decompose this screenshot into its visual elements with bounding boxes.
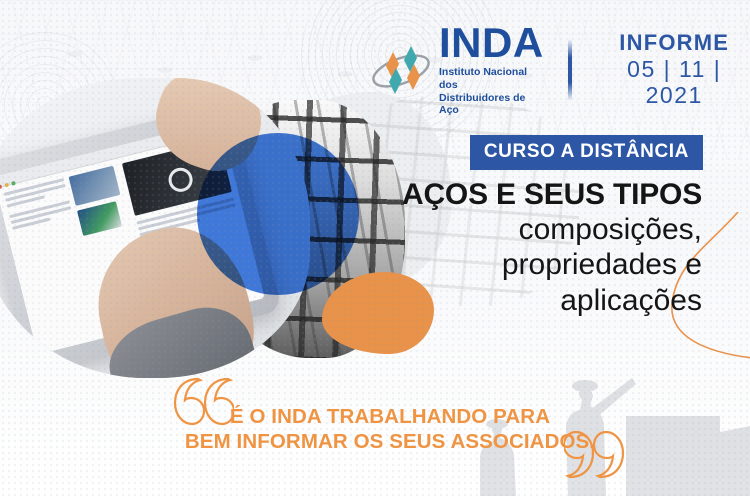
blue-circle-overlay: [197, 133, 359, 295]
inda-orbit-diamonds-logo-icon: [370, 42, 432, 98]
course-type-badge: CURSO A DISTÂNCIA: [470, 135, 703, 170]
informe-block: INFORME 05 | 11 | 2021: [598, 30, 750, 109]
course-subtitle-line2: propriedades e: [402, 248, 702, 283]
quotation-mark-close-icon: [564, 428, 626, 480]
quote-line-2: BEM INFORMAR OS SEUS ASSOCIADOS.: [180, 429, 600, 454]
quote-line-1: É O INDA TRABALHANDO PARA: [180, 404, 600, 429]
informe-date: 05 | 11 | 2021: [598, 56, 750, 109]
course-title-main: AÇOS E SEUS TIPOS: [402, 178, 702, 212]
logo-tagline-line1: Instituto Nacional dos: [439, 66, 544, 92]
quote-text: É O INDA TRABALHANDO PARA BEM INFORMAR O…: [180, 404, 600, 454]
quote-block: É O INDA TRABALHANDO PARA BEM INFORMAR O…: [172, 378, 642, 478]
inda-logo[interactable]: INDA Instituto Nacional dos Distribuidor…: [370, 22, 544, 117]
informe-banner: INDA Instituto Nacional dos Distribuidor…: [0, 0, 750, 496]
course-title-block: AÇOS E SEUS TIPOS composições, proprieda…: [402, 178, 702, 319]
course-subtitle-line3: aplicações: [402, 284, 702, 319]
logo-title: INDA: [439, 22, 544, 64]
informe-label: INFORME: [598, 30, 750, 56]
logo-tagline-line2: Distribuidores de Aço: [439, 92, 544, 118]
vertical-divider-bar: [568, 39, 573, 101]
banner-header: INDA Instituto Nacional dos Distribuidor…: [370, 22, 750, 117]
course-subtitle-line1: composições,: [402, 213, 702, 248]
